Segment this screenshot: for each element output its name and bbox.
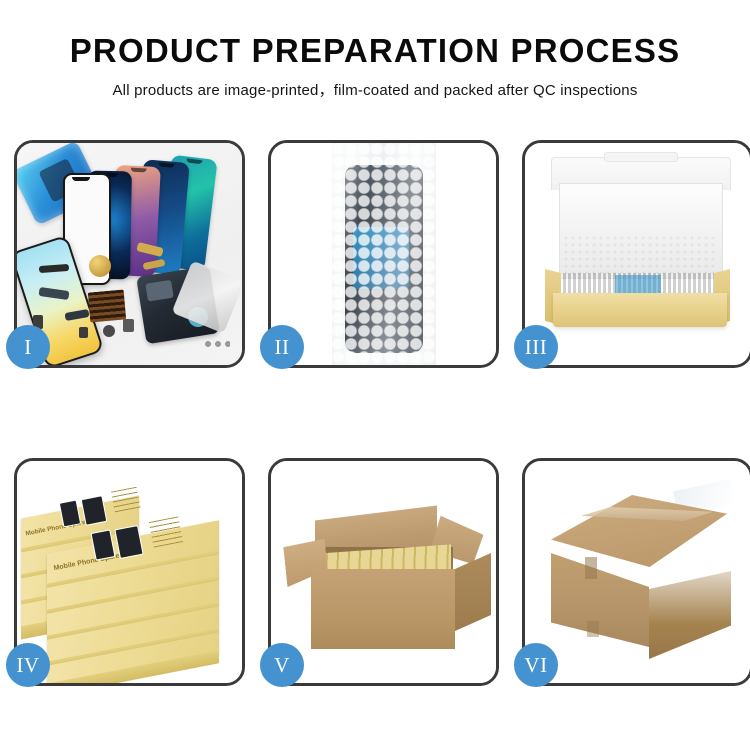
step-panel-6: VI <box>522 458 750 686</box>
carton-front-panel-graphic <box>311 569 455 649</box>
step-1-image <box>17 143 242 365</box>
step-3-image <box>525 143 750 365</box>
box-art-screen-1b <box>81 495 108 526</box>
step-badge-2: II <box>260 325 304 369</box>
box-stack-graphic: Mobile Phone Spare Parts Mobile Phone Sp… <box>17 461 242 683</box>
box-art-screen-1a <box>59 500 81 528</box>
small-part-icon-3 <box>123 319 134 332</box>
step-badge-1: I <box>6 325 50 369</box>
carton-side-panel-graphic <box>455 553 491 631</box>
retail-box-front-5 <box>47 649 219 671</box>
step-panel-3: III <box>522 140 750 368</box>
box-art-screen-2b <box>114 525 143 559</box>
vibration-motor-icon <box>89 255 111 277</box>
step-panel-2: II <box>268 140 499 368</box>
step-panel-5: V <box>268 458 499 686</box>
carton-seam-upper <box>585 557 597 579</box>
process-steps-grid: I II III <box>14 140 736 686</box>
step-badge-6: VI <box>514 643 558 687</box>
step-5-image <box>271 461 496 683</box>
step-badge-3: III <box>514 325 558 369</box>
carton-seam-lower <box>587 621 599 637</box>
step-panel-1: I <box>14 140 245 368</box>
step-badge-5: V <box>260 643 304 687</box>
box-art-textlines-1 <box>111 487 141 516</box>
small-part-icon-2 <box>103 325 115 337</box>
chip-grid-graphic <box>88 289 126 322</box>
small-part-icon-4 <box>79 327 88 338</box>
sealed-carton-side-graphic <box>649 571 731 659</box>
step-6-image <box>525 461 750 683</box>
step-4-image: Mobile Phone Spare Parts Mobile Phone Sp… <box>17 461 242 683</box>
step-panel-4: Mobile Phone Spare Parts Mobile Phone Sp… <box>14 458 245 686</box>
plastic-sheen <box>332 143 436 365</box>
sealed-carton-front-graphic <box>551 553 649 647</box>
page-title: PRODUCT PREPARATION PROCESS <box>0 34 750 67</box>
step-2-image <box>271 143 496 365</box>
step-badge-4: IV <box>6 643 50 687</box>
screws-graphic <box>204 339 230 349</box>
white-foam-liner-graphic <box>563 235 717 277</box>
page-subtitle: All products are image-printed，film-coat… <box>0 79 750 100</box>
page-header: PRODUCT PREPARATION PROCESS All products… <box>0 0 750 100</box>
mailer-front-panel-graphic <box>553 293 727 327</box>
